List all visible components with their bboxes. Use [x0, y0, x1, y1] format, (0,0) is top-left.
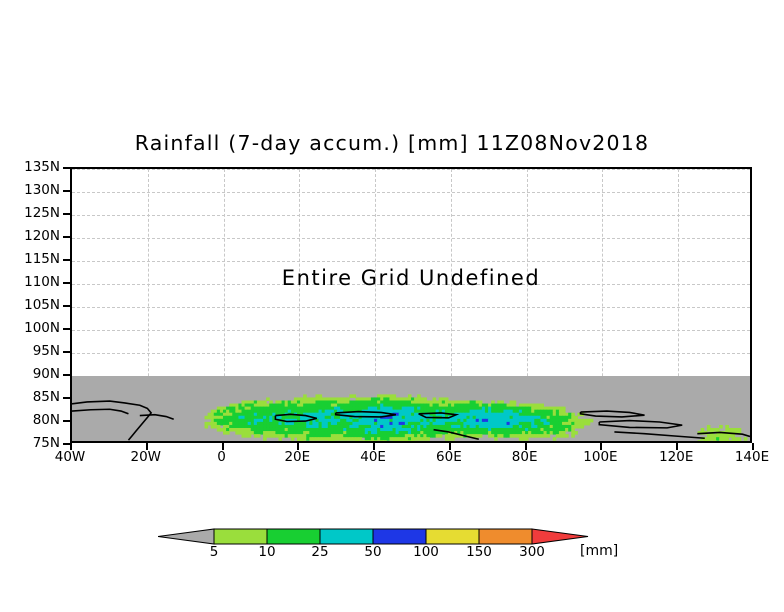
plot-area[interactable]: Entire Grid Undefined: [70, 167, 752, 443]
x-axis-tick-label: 100E: [560, 449, 640, 465]
y-axis-tick-mark: [63, 190, 70, 192]
y-axis-tick-label: 125N: [24, 205, 60, 221]
x-axis-tick-label: 120E: [636, 449, 716, 465]
x-axis-tick-mark: [222, 443, 224, 450]
x-axis-tick-label: 0: [182, 449, 262, 465]
colorbar-tick-label: 5: [184, 544, 244, 560]
y-axis-tick-mark: [63, 282, 70, 284]
entire-grid-undefined-label: Entire Grid Undefined: [72, 266, 750, 290]
y-axis-tick-label: 110N: [24, 274, 60, 290]
y-axis-tick-mark: [63, 420, 70, 422]
page-title: Rainfall (7-day accum.) [mm] 11Z08Nov201…: [0, 131, 784, 155]
x-axis-tick-mark: [752, 443, 754, 450]
y-axis-tick-label: 85N: [33, 389, 60, 405]
colorbar-units-label: [mm]: [580, 543, 618, 559]
y-axis-tick-mark: [63, 351, 70, 353]
x-axis-tick-mark: [373, 443, 375, 450]
rainfall-raster: [72, 169, 750, 441]
x-axis-tick-mark: [525, 443, 527, 450]
y-axis-tick-label: 120N: [24, 228, 60, 244]
colorbar-tick-label: 10: [237, 544, 297, 560]
x-axis-tick-label: 60E: [409, 449, 489, 465]
x-axis-tick-label: 80E: [485, 449, 565, 465]
y-axis-tick-label: 115N: [24, 251, 60, 267]
colorbar-tick-label: 25: [290, 544, 350, 560]
x-axis-tick-mark: [676, 443, 678, 450]
y-axis-tick-label: 100N: [24, 320, 60, 336]
y-axis-tick-mark: [63, 374, 70, 376]
y-axis-tick-label: 135N: [24, 159, 60, 175]
x-axis-tick-mark: [449, 443, 451, 450]
y-axis-tick-mark: [63, 259, 70, 261]
y-axis-tick-label: 80N: [33, 412, 60, 428]
y-axis-tick-label: 95N: [33, 343, 60, 359]
y-axis-tick-label: 105N: [24, 297, 60, 313]
y-axis-tick-label: 90N: [33, 366, 60, 382]
x-axis-tick-mark: [600, 443, 602, 450]
y-axis-tick-mark: [63, 397, 70, 399]
x-axis-tick-mark: [146, 443, 148, 450]
colorbar-tick-label: 150: [449, 544, 509, 560]
x-axis-tick-mark: [297, 443, 299, 450]
colorbar-tick-label: 50: [343, 544, 403, 560]
y-axis-tick-mark: [63, 236, 70, 238]
plot-inner: Entire Grid Undefined: [72, 169, 750, 441]
y-axis-tick-mark: [63, 328, 70, 330]
x-axis-tick-label: 40E: [333, 449, 413, 465]
colorbar-tick-label: 100: [396, 544, 456, 560]
x-axis-tick-label: 20W: [106, 449, 186, 465]
x-axis-tick-label: 40W: [30, 449, 110, 465]
y-axis-tick-mark: [63, 213, 70, 215]
y-axis-tick-mark: [63, 443, 70, 445]
y-axis-tick-mark: [63, 167, 70, 169]
rainfall-map-figure: Rainfall (7-day accum.) [mm] 11Z08Nov201…: [0, 0, 784, 612]
x-axis-tick-label: 20E: [257, 449, 337, 465]
colorbar-tick-label: 300: [502, 544, 562, 560]
x-axis-tick-mark: [70, 443, 72, 450]
x-axis-tick-label: 140E: [712, 449, 784, 465]
y-axis-tick-label: 130N: [24, 182, 60, 198]
y-axis-tick-mark: [63, 305, 70, 307]
